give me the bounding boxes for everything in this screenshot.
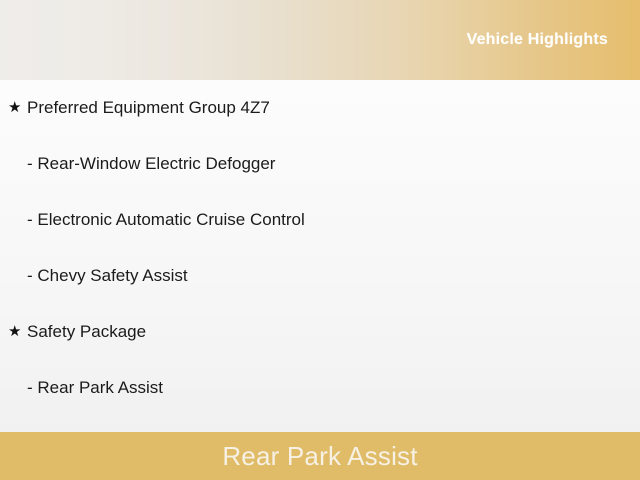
slide-header: Vehicle Highlights <box>0 0 640 80</box>
list-item-label: - Rear Park Assist <box>27 378 163 398</box>
star-icon: ★ <box>8 98 27 118</box>
list-item-label: Safety Package <box>27 322 146 342</box>
list-item-label: - Electronic Automatic Cruise Control <box>27 210 305 230</box>
star-icon: ★ <box>8 322 27 342</box>
vehicle-highlights-slide: Vehicle Highlights ★ Preferred Equipment… <box>0 0 640 480</box>
list-item-label: - Rear-Window Electric Defogger <box>27 154 275 174</box>
list-item: ★ Safety Package <box>0 304 640 360</box>
footer-caption: Rear Park Assist <box>222 441 417 471</box>
list-item: ★ Preferred Equipment Group 4Z7 <box>0 80 640 136</box>
highlights-body: ★ Preferred Equipment Group 4Z7 - Rear-W… <box>0 80 640 432</box>
page-title: Vehicle Highlights <box>467 31 608 49</box>
highlight-list: ★ Preferred Equipment Group 4Z7 - Rear-W… <box>0 80 640 416</box>
list-item-label: Preferred Equipment Group 4Z7 <box>27 98 270 118</box>
list-item: - Electronic Automatic Cruise Control <box>0 192 640 248</box>
list-item-label: - Chevy Safety Assist <box>27 266 188 286</box>
list-item: - Chevy Safety Assist <box>0 248 640 304</box>
slide-footer: Rear Park Assist <box>0 432 640 480</box>
list-item: - Rear-Window Electric Defogger <box>0 136 640 192</box>
list-item: - Rear Park Assist <box>0 360 640 416</box>
